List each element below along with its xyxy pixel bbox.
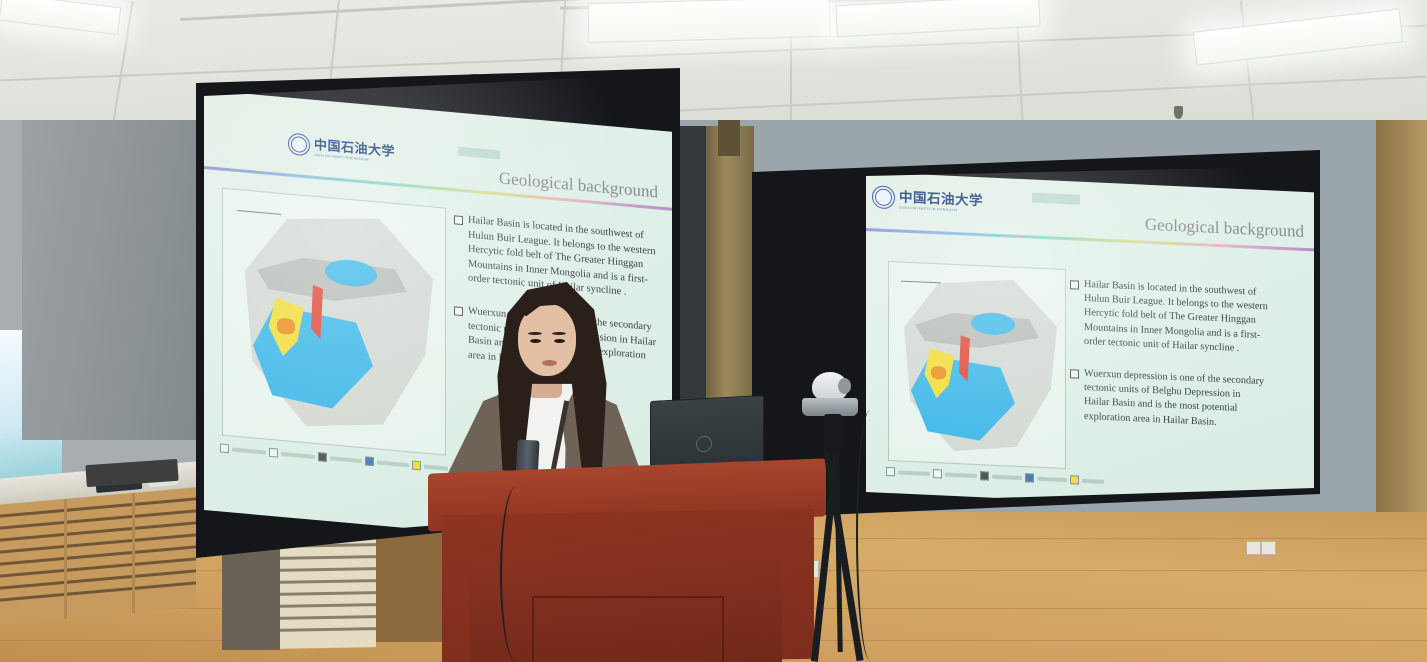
university-logo: 中国石油大学 CHINA UNIVERSITY OF PETROLEUM: [872, 184, 983, 213]
presenter-eyebrow: [528, 332, 542, 335]
presenter-eye: [530, 339, 541, 343]
right-slide-surface: 中国石油大学 CHINA UNIVERSITY OF PETROLEUM Geo…: [866, 172, 1314, 502]
podium-cable: [500, 486, 532, 662]
presenter-eyebrow: [552, 332, 566, 335]
bullet-square-icon: [1070, 280, 1079, 289]
podium-front-panel: [532, 596, 724, 662]
slide-corner-tag: [1032, 193, 1080, 205]
presenter-eye: [554, 339, 565, 343]
map-scale-bar: [901, 275, 941, 284]
ceiling-light: [588, 0, 831, 43]
tripod-head[interactable]: [824, 414, 842, 454]
tectonic-map-figure: [222, 188, 446, 456]
right-projection-screen: 中国石油大学 CHINA UNIVERSITY OF PETROLEUM Geo…: [866, 166, 1314, 502]
lecture-hall-photo: 中国石油大学 CHINA UNIVERSITY OF PETROLEUM Geo…: [0, 0, 1427, 662]
ptz-camera-lens-icon: [838, 378, 851, 394]
presenter-mouth: [542, 360, 557, 366]
bullet-text: Hailar Basin is located in the southwest…: [1084, 278, 1268, 357]
radiator-cover: [0, 487, 196, 624]
wall-outlet[interactable]: [1261, 541, 1276, 555]
university-logo: 中国石油大学 CHINA UNIVERSITY OF PETROLEUM: [288, 131, 395, 164]
av-cabinet: [222, 538, 280, 650]
wall-panel-wood: [376, 532, 442, 642]
window-curtain: [22, 120, 202, 440]
wall-outlet[interactable]: [1246, 541, 1261, 555]
slide-title-right: Geological background: [1145, 215, 1304, 242]
radiator-cover-center: [276, 535, 376, 649]
camera-cable: [856, 410, 884, 660]
slide-bullets-right: Hailar Basin is located in the southwest…: [1070, 277, 1268, 432]
map-scale-bar: [237, 204, 281, 215]
university-seal-icon: [288, 132, 310, 156]
bullet-text: Wuerxun depression is one of the seconda…: [1084, 367, 1268, 432]
tectonic-map-figure: [888, 261, 1066, 469]
right-pillar: [1376, 120, 1427, 560]
university-seal-icon: [872, 185, 895, 209]
wall-speaker: [680, 126, 706, 418]
sprinkler-head: [1174, 106, 1183, 119]
wall-column: [704, 126, 754, 426]
slide-corner-tag: [458, 147, 500, 160]
map-legend: [886, 467, 1104, 486]
bullet-square-icon: [454, 215, 463, 225]
bullet-item: Hailar Basin is located in the southwest…: [1070, 277, 1268, 357]
bullet-item: Wuerxun depression is one of the seconda…: [1070, 366, 1268, 432]
wall-column-upper: [718, 120, 740, 156]
bullet-square-icon: [1070, 369, 1079, 378]
